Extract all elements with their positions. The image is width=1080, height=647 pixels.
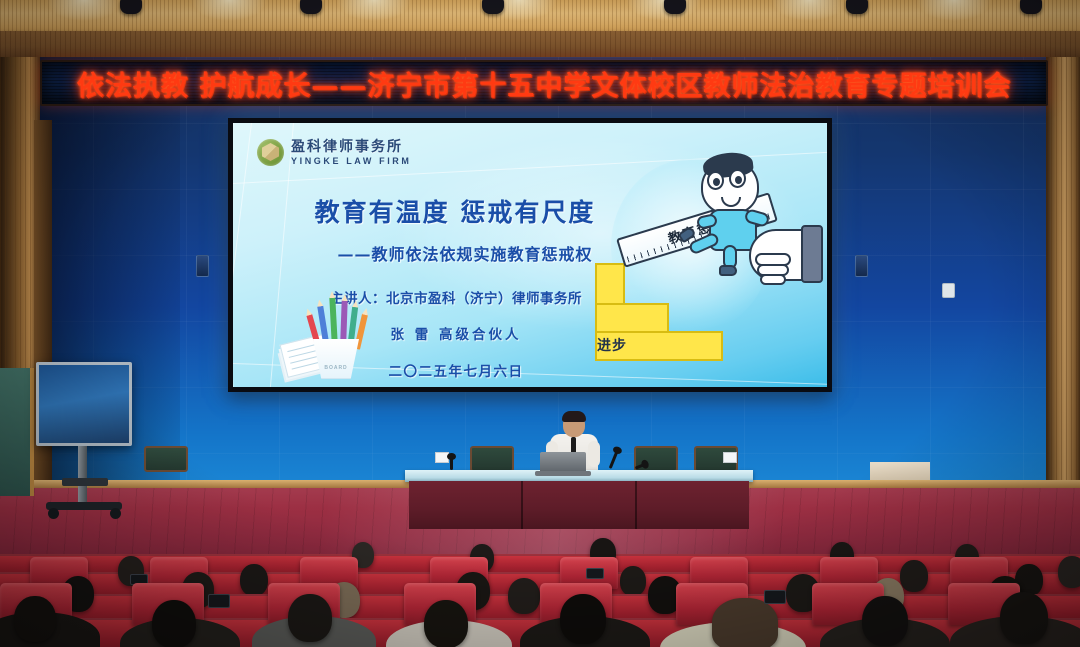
pencil-cup-illustration: BOARD [283,293,379,379]
presenter-laptop[interactable] [540,452,586,472]
audience-head [152,600,196,647]
audience-head [240,564,268,596]
podium-chair[interactable] [144,446,188,472]
yingke-logo: 盈科律师事务所 YINGKE LAW FIRM [257,139,412,166]
ceiling-spotlight-icon [300,0,322,14]
audience-head [1000,592,1048,644]
mobile-display-cart[interactable] [18,362,138,522]
audience-head [712,598,778,647]
ceiling-beam [0,31,1080,59]
ceiling-spotlight-icon [482,0,504,14]
cart-wheel-icon [48,508,59,519]
audience-head [14,596,56,642]
wall-speaker-icon [855,255,868,277]
projection-screen: 盈科律师事务所 YINGKE LAW FIRM 教育有温度 惩戒有尺度 ——教师… [228,118,832,392]
podium-chair[interactable] [470,446,514,472]
ceiling-spotlight-icon [664,0,686,14]
auditorium-scene: 依法执教 护航成长——济宁市第十五中学文体校区教师法治教育专题培训会 盈科律师事… [0,0,1080,647]
presentation-slide: 盈科律师事务所 YINGKE LAW FIRM 教育有温度 惩戒有尺度 ——教师… [233,123,827,387]
podium-chair[interactable] [634,446,678,472]
cart-wheel-icon [110,508,121,519]
audience-head [288,594,332,642]
audience-head [620,566,646,596]
smartphone-icon[interactable] [208,594,230,608]
ceiling-spotlight-icon [846,0,868,14]
audience-area [0,520,1080,647]
ceiling-spotlight-icon [120,0,142,14]
name-card [723,452,737,463]
smartphone-icon[interactable] [764,590,786,604]
audience-head [424,600,468,647]
led-banner-text: 依法执教 护航成长——济宁市第十五中学文体校区教师法治教育专题培训会 [77,64,1011,103]
logo-name-en: YINGKE LAW FIRM [291,157,412,166]
audience-head [900,560,928,592]
pencil-cup-icon: BOARD [313,339,359,379]
hand-illustration [733,223,819,293]
audience-head [508,578,540,614]
cartoon-illustration: 进步 教育惩戒 [581,147,821,377]
audience-head [560,594,606,644]
audience-head [1058,556,1080,588]
ceiling-spotlight-icon [1020,0,1042,14]
led-banner: 依法执教 护航成长——济宁市第十五中学文体校区教师法治教育专题培训会 [40,60,1048,106]
stairs-label: 进步 [597,335,627,355]
logo-name-cn: 盈科律师事务所 [291,140,412,154]
wall-outlet-icon [942,283,955,298]
tv-screen[interactable] [36,362,132,446]
desk-microphone-icon [450,458,453,470]
smartphone-icon[interactable] [586,568,604,579]
audience-head [862,596,908,646]
pencil-cup-label: BOARD [313,365,359,371]
wall-speaker-icon [196,255,209,277]
yingke-cube-logo-icon [257,139,284,166]
